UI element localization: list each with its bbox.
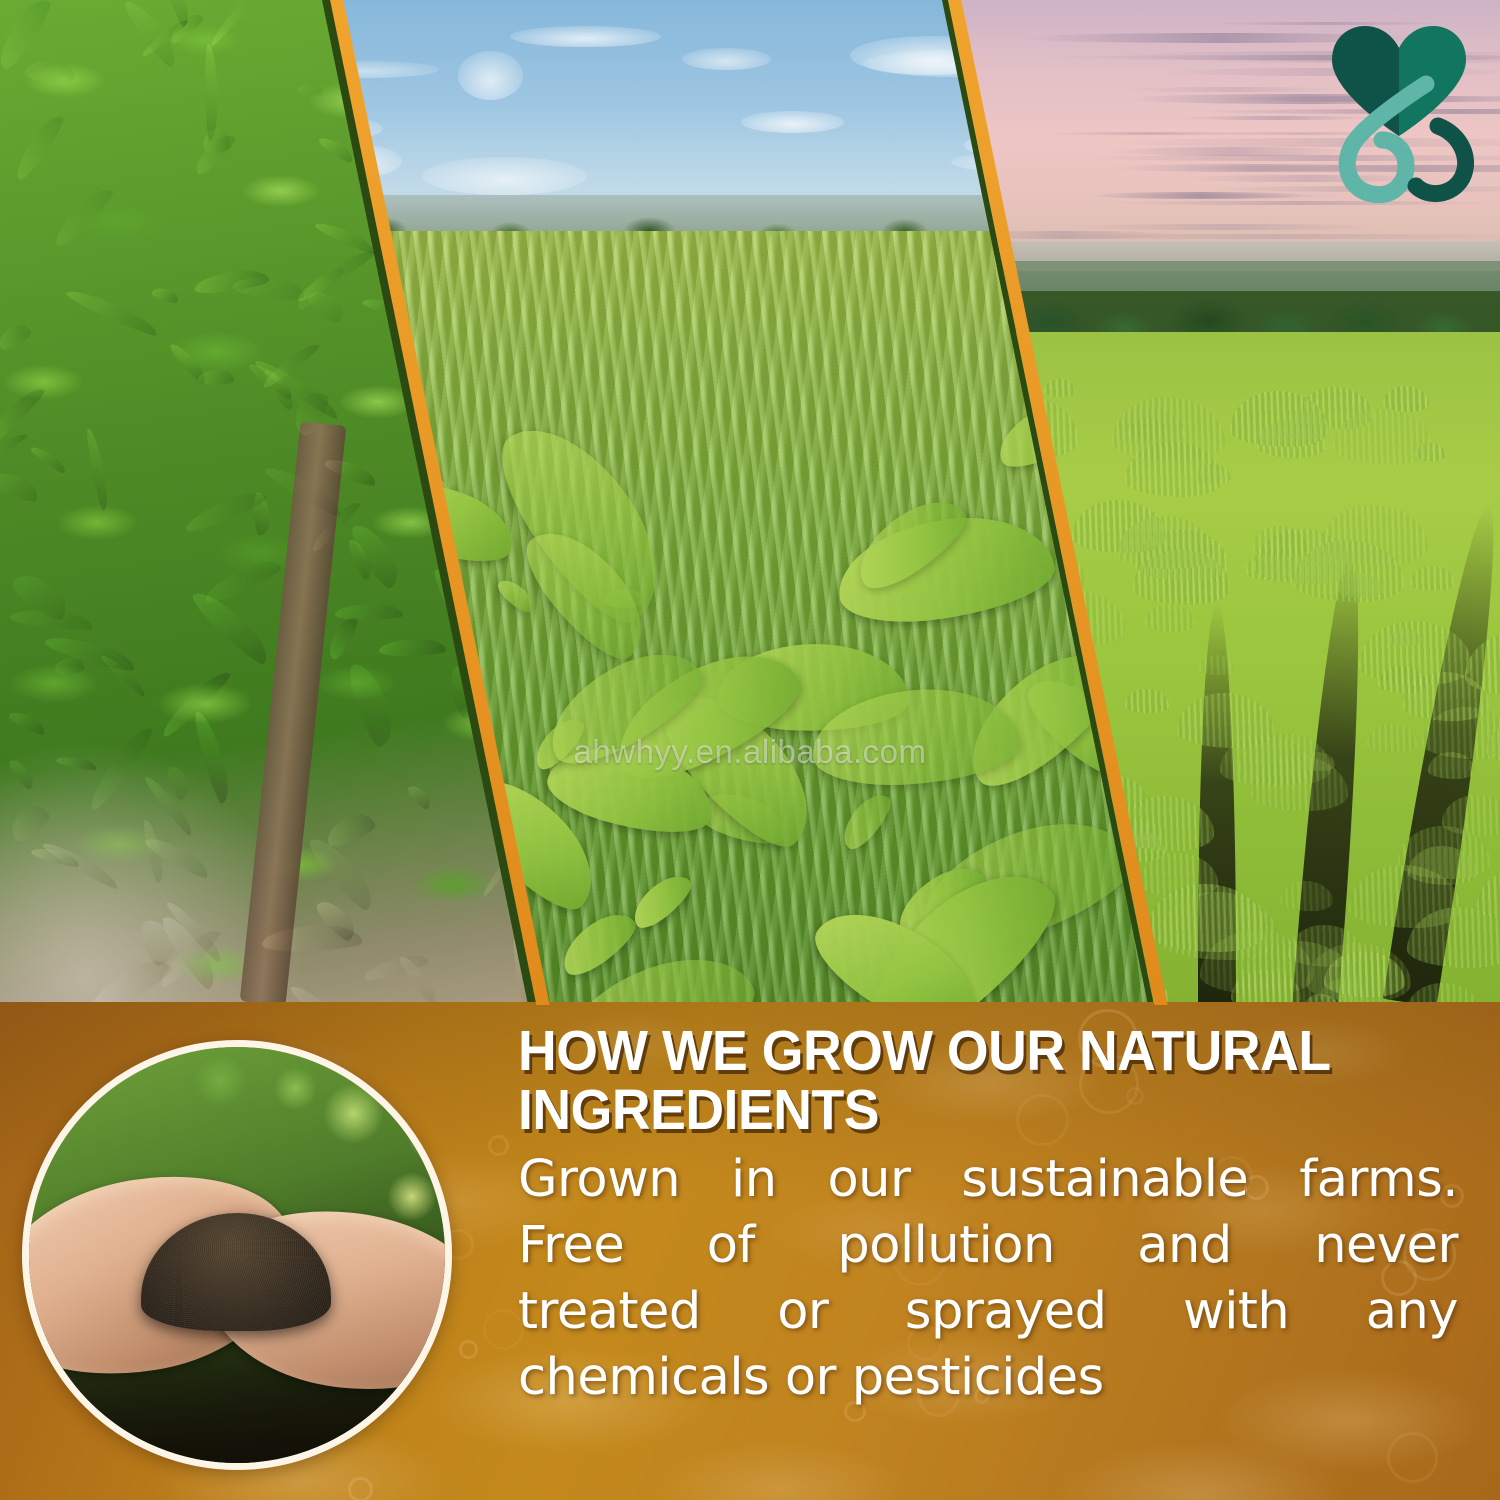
crop-tuft bbox=[1044, 379, 1075, 397]
body-line: treatedorsprayedwithany bbox=[518, 1279, 1458, 1345]
hands-holding-soil-photo bbox=[22, 1040, 452, 1470]
body-line: Growninoursustainablefarms. bbox=[518, 1147, 1458, 1213]
cloud-streak bbox=[1045, 132, 1256, 135]
body-word: sustainable bbox=[961, 1147, 1248, 1213]
body-word: with bbox=[1183, 1279, 1289, 1345]
body-line: Freeofpollutionandnever bbox=[518, 1213, 1458, 1279]
body-word: farms. bbox=[1299, 1147, 1458, 1213]
body-copy: Growninoursustainablefarms.Freeofpolluti… bbox=[518, 1147, 1458, 1412]
body-word: Free bbox=[518, 1213, 624, 1279]
body-line: chemicals or pesticides bbox=[518, 1345, 1458, 1411]
hook-dark bbox=[1416, 126, 1466, 194]
cloud-streak bbox=[1072, 224, 1381, 230]
body-word: in bbox=[731, 1147, 777, 1213]
body-word: any bbox=[1366, 1279, 1458, 1345]
swirl bbox=[488, 1135, 509, 1156]
body-word: treated bbox=[518, 1279, 701, 1345]
body-word: pollution bbox=[837, 1213, 1054, 1279]
heart-link-logo[interactable] bbox=[1320, 18, 1478, 204]
cloud bbox=[741, 111, 844, 132]
photo-strip: ahwhyy.en.alibaba.com bbox=[0, 0, 1500, 1005]
body-word: Grown bbox=[518, 1147, 680, 1213]
cloud bbox=[422, 157, 586, 196]
body-word: and bbox=[1137, 1213, 1231, 1279]
swirl bbox=[348, 1477, 373, 1500]
cloud bbox=[682, 48, 771, 71]
body-word: never bbox=[1314, 1213, 1458, 1279]
cloud bbox=[510, 26, 661, 48]
panel-text-block: HOW WE GROW OUR NATURAL INGREDIENTS Grow… bbox=[518, 1022, 1458, 1412]
cloud-streak bbox=[1090, 192, 1313, 199]
swirl bbox=[1387, 1432, 1438, 1483]
crop-tuft bbox=[1199, 655, 1234, 675]
cloud-streak bbox=[1121, 87, 1347, 92]
swirl bbox=[459, 1340, 478, 1359]
body-word: or bbox=[777, 1279, 828, 1345]
cloud bbox=[458, 51, 523, 100]
body-word: of bbox=[707, 1213, 755, 1279]
body-word: sprayed bbox=[905, 1279, 1107, 1345]
cloud-streak bbox=[1011, 234, 1500, 239]
page-title: HOW WE GROW OUR NATURAL INGREDIENTS bbox=[518, 1022, 1402, 1141]
cloud-streak bbox=[1112, 147, 1355, 156]
body-word: our bbox=[827, 1147, 910, 1213]
promotional-poster: ahwhyy.en.alibaba.com HOW WE GROW OUR NA… bbox=[0, 0, 1500, 1500]
